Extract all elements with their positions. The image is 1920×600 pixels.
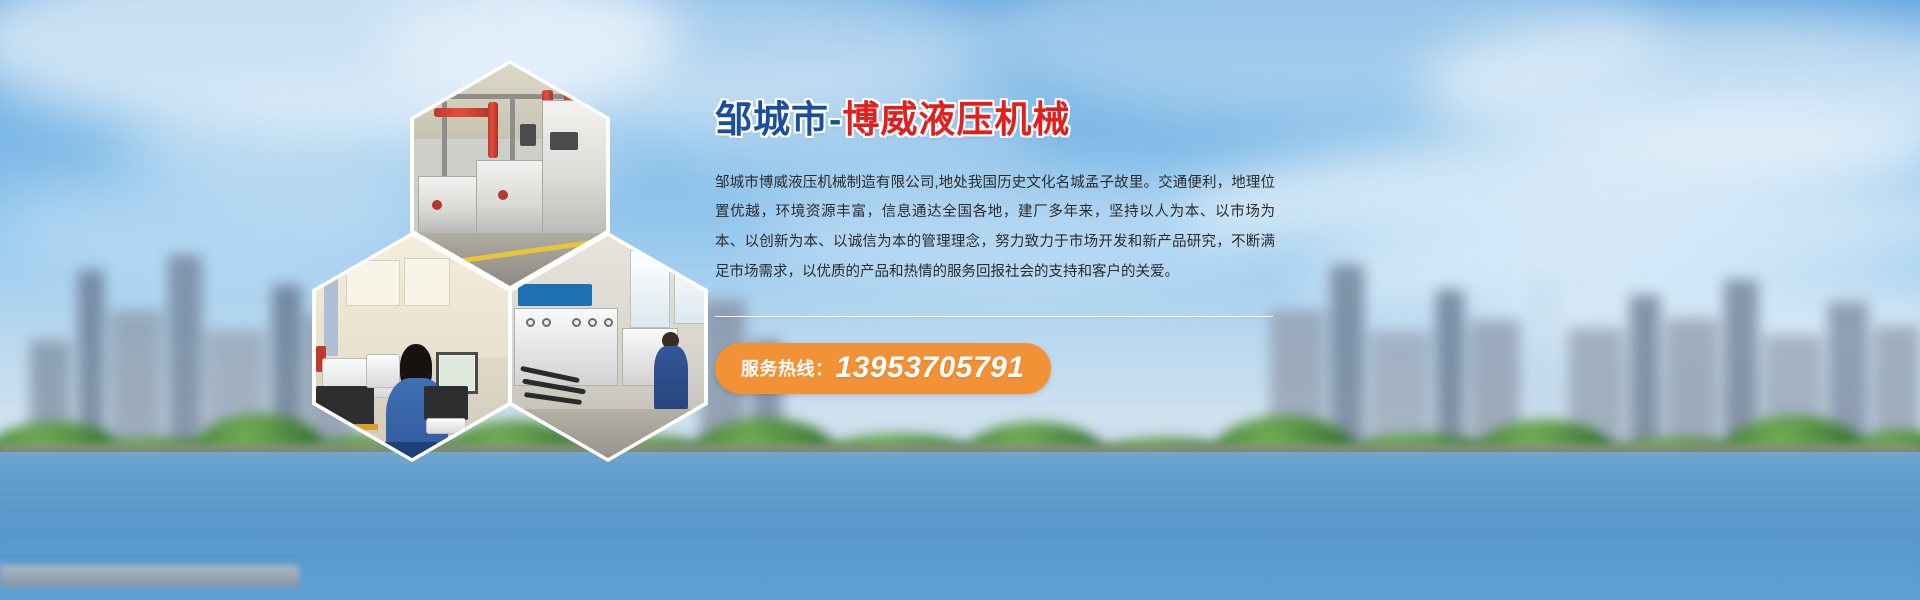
company-title-city: 邹城市 xyxy=(715,99,829,140)
company-title-brand: 博威液压机械 xyxy=(842,99,1070,140)
service-hotline-label: 服务热线： xyxy=(741,355,834,381)
company-banner: 邹城市-博威液压机械 邹城市博威液压机械制造有限公司,地处我国历史文化名城孟子故… xyxy=(0,0,1920,600)
hexagon-photo-cluster xyxy=(300,60,700,440)
company-description: 邹城市博威液压机械制造有限公司,地处我国历史文化名城孟子故里。交通便利，地理位置… xyxy=(715,169,1275,288)
company-title: 邹城市-博威液压机械 xyxy=(715,100,1295,141)
cloud-shape xyxy=(1420,10,1920,160)
content-divider xyxy=(715,316,1273,317)
boat-silhouette xyxy=(0,565,300,587)
service-hotline-badge[interactable]: 服务热线： 13953705791 xyxy=(715,343,1051,394)
banner-content: 邹城市-博威液压机械 邹城市博威液压机械制造有限公司,地处我国历史文化名城孟子故… xyxy=(715,100,1295,394)
service-hotline-number: 13953705791 xyxy=(836,351,1025,385)
company-title-separator: - xyxy=(829,99,842,140)
